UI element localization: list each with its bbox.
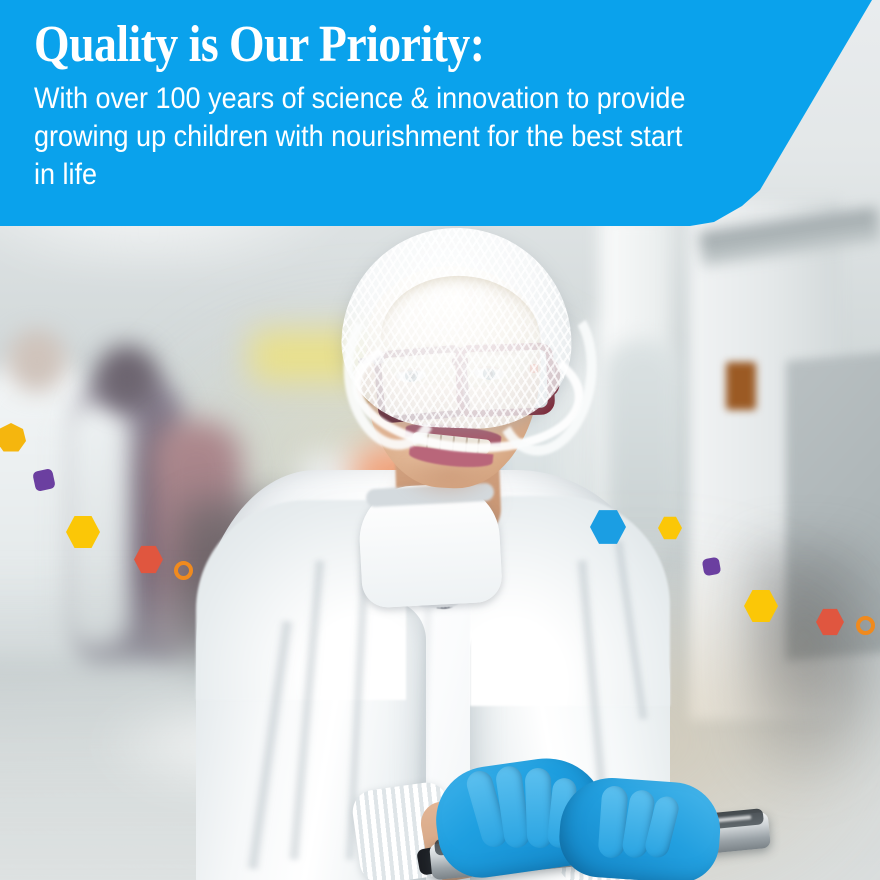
headline-banner: Quality is Our Priority: With over 100 y… xyxy=(0,0,880,228)
square-purple-right-shape xyxy=(702,557,722,577)
page-title: Quality is Our Priority: xyxy=(34,18,685,72)
banner-text-block: Quality is Our Priority: With over 100 y… xyxy=(34,18,774,193)
ring-orange-right-shape xyxy=(856,616,875,635)
poster-canvas: Quality is Our Priority: With over 100 y… xyxy=(0,0,880,880)
page-subtitle: With over 100 years of science & innovat… xyxy=(34,80,700,193)
square-purple-left-shape xyxy=(32,468,56,492)
ring-orange-left-shape xyxy=(174,561,193,580)
